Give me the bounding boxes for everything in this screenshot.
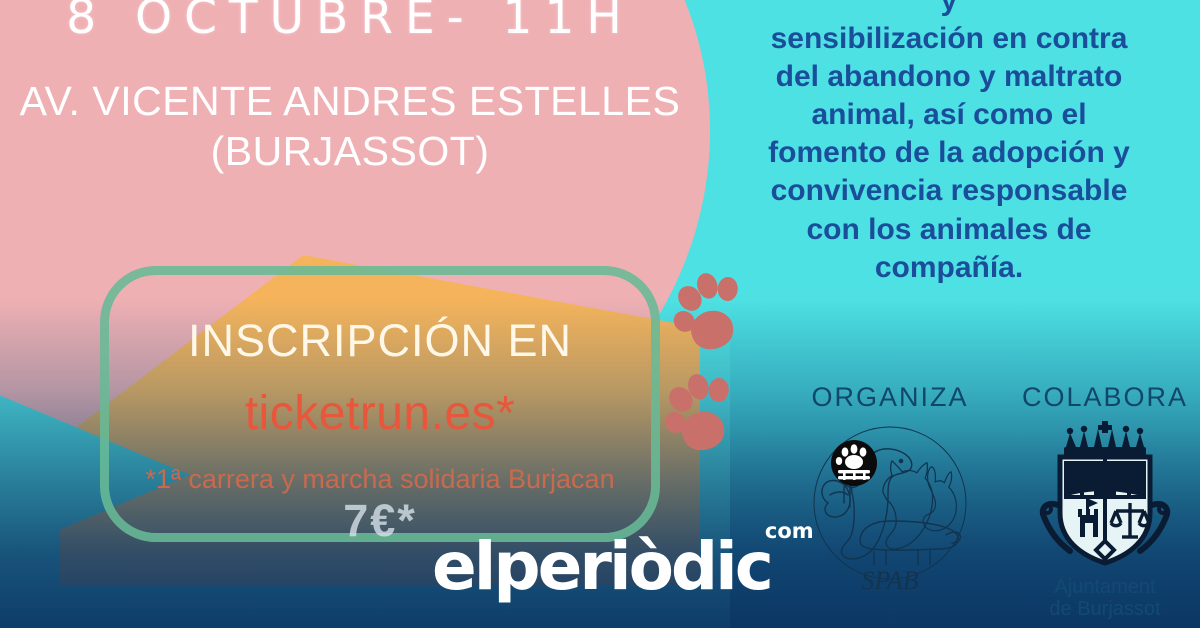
description-line-clipped: y xyxy=(706,0,1192,20)
event-address: AV. VICENTE ANDRES ESTELLES (BURJASSOT) xyxy=(0,76,700,176)
burjassot-coat-of-arms xyxy=(1010,417,1200,577)
description-line-6: compañía. xyxy=(706,249,1192,287)
elperiodic-watermark: elperiòdiccom xyxy=(432,534,820,600)
poster-canvas: 8 OCTUBRE- 11H AV. VICENTE ANDRES ESTELL… xyxy=(0,0,1200,628)
inscription-footnote: *1ª carrera y marcha solidaria Burjacan xyxy=(82,464,678,495)
watermark-brand: elperiòdic xyxy=(432,528,771,605)
inscription-url[interactable]: ticketrun.es* xyxy=(100,386,660,441)
spab-paw-badge xyxy=(831,440,877,486)
description-line-4: convivencia responsable xyxy=(706,172,1192,210)
event-address-line-2: (BURJASSOT) xyxy=(0,126,700,176)
colabora-heading: COLABORA xyxy=(1010,382,1200,413)
event-address-line-1: AV. VICENTE ANDRES ESTELLES xyxy=(0,76,700,126)
description-line-1: del abandono y maltrato xyxy=(706,58,1192,96)
watermark-tld: com xyxy=(765,519,814,543)
spab-logo: SPAB xyxy=(795,417,985,597)
description-paragraph: y sensibilización en contra del abandono… xyxy=(706,0,1192,287)
description-line-2: animal, así como el xyxy=(706,96,1192,134)
organiza-heading: ORGANIZA xyxy=(795,382,985,413)
colabora-subtitle-line-2: de Burjassot xyxy=(1010,599,1200,621)
colabora-subtitle-line-1: Ajuntament xyxy=(1010,577,1200,599)
credit-organiza: ORGANIZA xyxy=(795,382,985,628)
colabora-subtitle: Ajuntament de Burjassot xyxy=(1010,577,1200,620)
inscription-title: INSCRIPCIÓN EN xyxy=(100,315,660,367)
event-date-time: 8 OCTUBRE- 11H xyxy=(0,0,700,45)
spab-logo-label: SPAB xyxy=(861,566,918,595)
description-line-5: con los animales de xyxy=(706,211,1192,249)
credit-colabora: COLABORA xyxy=(1010,382,1200,628)
description-line-3: fomento de la adopción y xyxy=(706,134,1192,172)
description-line-0: sensibilización en contra xyxy=(706,20,1192,58)
credits-section: ORGANIZA xyxy=(795,382,1200,628)
